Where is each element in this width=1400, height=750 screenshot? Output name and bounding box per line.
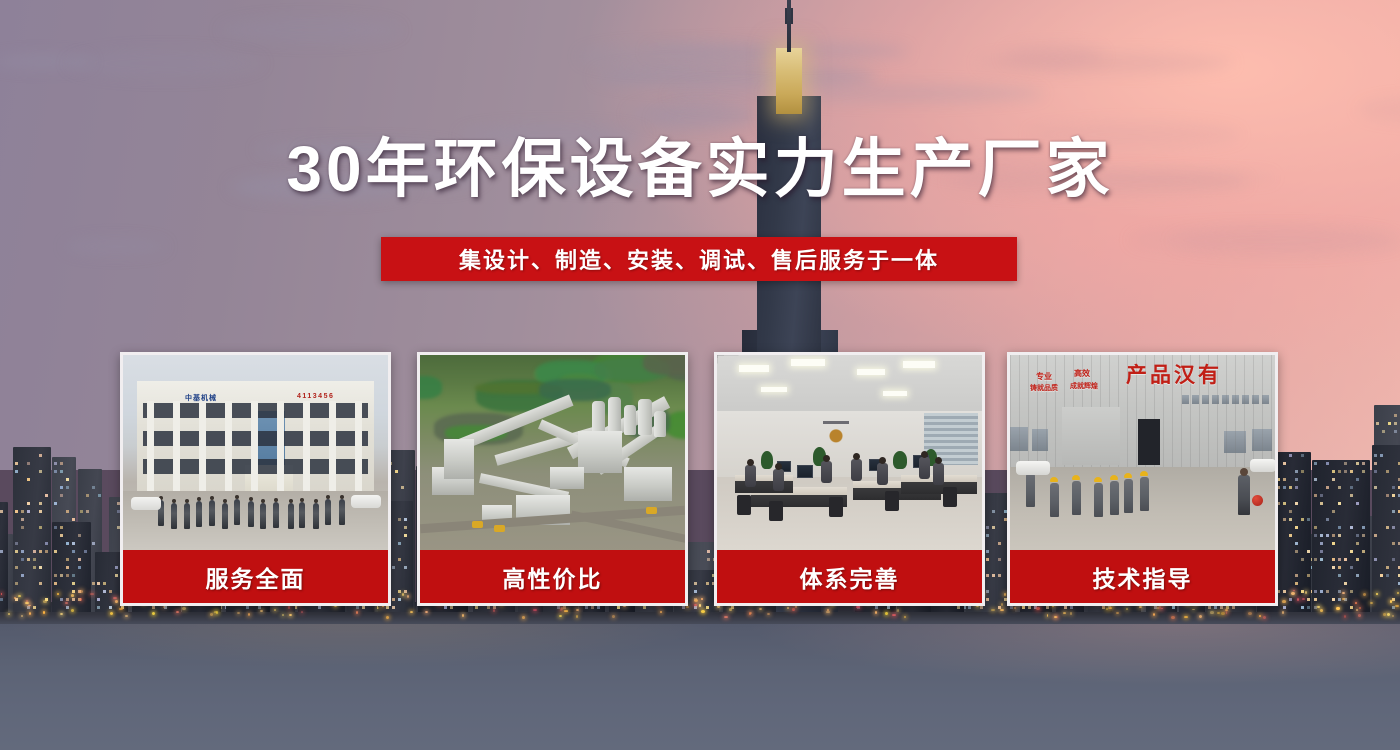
shore-light: [210, 613, 213, 616]
staff-member: [339, 499, 345, 525]
factory-worker: [1050, 483, 1059, 517]
river-water: [0, 612, 1400, 750]
shore-light: [282, 614, 284, 616]
hard-hat: [1050, 477, 1058, 482]
office-chair: [943, 487, 957, 507]
shore-light: [991, 609, 995, 611]
shore-light: [612, 615, 615, 618]
shore-light: [897, 609, 899, 612]
shore-light: [701, 610, 705, 613]
shore-light: [1392, 615, 1394, 617]
office-chair: [885, 491, 899, 511]
shore-light: [686, 606, 689, 608]
parked-car-left: [131, 497, 161, 510]
shore-light: [885, 612, 888, 615]
shore-light: [724, 616, 728, 618]
shore-light: [749, 612, 751, 615]
facade-pillar: [173, 401, 180, 493]
factory-banner-small-3: 铸就品质: [1030, 383, 1058, 393]
factory-banner-main: 产品汉有: [1126, 359, 1222, 389]
factory-banner-small-2: 高效: [1074, 368, 1090, 379]
ceiling-light-panel: [761, 387, 787, 392]
factory-worker: [1124, 479, 1133, 513]
instructor-head: [1240, 468, 1248, 476]
shore-light: [826, 611, 830, 613]
shore-light: [904, 616, 906, 618]
cloud: [67, 49, 263, 78]
yellow-excavator: [472, 521, 483, 528]
ceiling-light-panel: [791, 359, 825, 366]
staff-head: [289, 499, 293, 503]
factory-yard-scene: 产品汉有 专业 高效 铸就品质 成就辉煌: [1010, 355, 1275, 553]
hero-subtitle-banner: 集设计、制造、安装、调试、售后服务于一体: [381, 237, 1017, 281]
factory-banner-small-1: 专业: [1036, 371, 1052, 382]
ceiling-light-panel: [883, 391, 907, 396]
shore-light: [1014, 607, 1016, 609]
shore-light: [410, 611, 413, 613]
feature-card-4-photo: 产品汉有 专业 高效 铸就品质 成就辉煌: [1010, 355, 1275, 553]
parked-car-right: [351, 495, 381, 508]
shore-light: [1126, 608, 1128, 610]
red-hard-hat-in-hand: [1252, 495, 1263, 506]
shore-light: [1221, 612, 1225, 615]
shore-light: [1383, 613, 1386, 616]
shore-light: [560, 608, 562, 611]
staff-member: [171, 503, 177, 529]
shore-light: [163, 606, 165, 608]
feature-card-1-photo: 中基机械 4113456: [123, 355, 388, 553]
feature-card-2[interactable]: 高性价比: [417, 352, 688, 606]
desk-partition: [735, 481, 793, 493]
cloud: [579, 44, 769, 69]
office-worker: [745, 465, 756, 487]
staff-member: [222, 503, 228, 529]
shore-light: [1199, 615, 1202, 618]
feature-card-3-caption: 体系完善: [717, 550, 982, 603]
office-plant: [893, 451, 907, 469]
shore-light: [1225, 609, 1228, 611]
shore-light: [1047, 614, 1048, 617]
shore-light: [274, 609, 276, 611]
shore-light: [1210, 611, 1214, 614]
hero-subtitle-text: 集设计、制造、安装、调试、售后服务于一体: [459, 243, 939, 275]
plant-building: [550, 467, 584, 489]
shore-light: [576, 615, 578, 618]
shore-light: [1259, 615, 1261, 617]
staff-head: [210, 496, 214, 500]
wall-logo-graphic: [823, 421, 849, 445]
shore-light: [377, 607, 379, 609]
shore-light: [176, 611, 179, 613]
facade-pillar: [251, 401, 258, 493]
shore-light: [1320, 609, 1323, 612]
staff-head: [326, 495, 330, 499]
facade-pillar: [303, 401, 310, 493]
shore-light: [301, 611, 303, 613]
shore-light: [1356, 609, 1358, 611]
shore-light: [856, 606, 860, 608]
ceiling-light-panel: [903, 361, 935, 368]
building-phone-number: 4113456: [297, 393, 334, 400]
shore-light: [356, 611, 358, 614]
staff-member: [299, 502, 305, 528]
hard-hat: [1110, 475, 1118, 480]
factory-worker: [1026, 473, 1035, 507]
shore-light: [1192, 609, 1195, 610]
shore-light: [1282, 611, 1284, 614]
feature-card-4-caption: 技术指导: [1010, 550, 1275, 603]
factory-rolling-gate: [1062, 407, 1120, 465]
office-chair: [829, 497, 843, 517]
parked-car: [1250, 459, 1275, 472]
hard-hat: [1094, 477, 1102, 482]
shore-light: [152, 612, 155, 615]
office-worker-head: [747, 459, 754, 466]
plant-building: [444, 439, 474, 479]
shore-light: [787, 607, 789, 609]
staff-member: [325, 499, 331, 525]
staff-head: [261, 499, 265, 503]
vegetation-patch: [420, 376, 442, 399]
shore-light: [767, 613, 770, 615]
factory-worker: [1110, 481, 1119, 515]
office-worker-head: [775, 463, 782, 470]
staff-head: [235, 495, 239, 499]
shore-light: [533, 609, 537, 611]
shore-light: [576, 609, 579, 611]
shore-light: [559, 615, 562, 617]
staff-member: [313, 503, 319, 529]
hard-hat: [1140, 471, 1148, 476]
shore-light: [288, 606, 290, 609]
shore-light: [522, 616, 525, 619]
instructor: [1238, 475, 1250, 515]
shore-light: [289, 614, 292, 616]
staff-member: [209, 500, 215, 526]
shore-light: [1344, 615, 1346, 618]
storage-silo: [624, 405, 636, 435]
feature-card-1[interactable]: 中基机械 4113456 服务全面: [120, 352, 391, 606]
staff-member: [248, 501, 254, 527]
staff-head: [185, 499, 189, 503]
office-chair: [769, 501, 783, 521]
shore-light: [892, 614, 896, 616]
shore-light: [729, 608, 732, 611]
parked-car: [1016, 461, 1050, 475]
feature-card-4[interactable]: 产品汉有 专业 高效 铸就品质 成就辉煌 技术指导: [1007, 352, 1278, 606]
storage-silo: [592, 401, 605, 435]
storage-silo: [608, 397, 621, 435]
staff-head: [274, 498, 278, 502]
office-worker: [933, 463, 944, 485]
office-worker-head: [823, 455, 830, 462]
shore-light: [425, 611, 428, 613]
feature-card-3[interactable]: 体系完善: [714, 352, 985, 606]
hero-banner: 30年环保设备实力生产厂家 集设计、制造、安装、调试、售后服务于一体 中基机械 …: [0, 0, 1400, 750]
shore-light: [1336, 607, 1340, 610]
factory-worker: [1140, 477, 1149, 511]
vegetation-patch: [539, 379, 611, 401]
storage-silo: [654, 411, 666, 437]
shore-light: [1171, 616, 1175, 619]
shore-light: [1106, 608, 1108, 610]
office-interior-scene: [717, 355, 982, 553]
shore-light: [875, 611, 877, 614]
shore-light: [386, 616, 389, 619]
shore-light: [1226, 611, 1227, 614]
cloud: [1004, 45, 1103, 67]
shore-light: [182, 607, 186, 610]
shore-light: [462, 614, 464, 617]
office-worker: [919, 457, 930, 479]
staff-member: [260, 503, 266, 529]
staff-head: [223, 499, 227, 503]
office-building-scene: 中基机械 4113456: [123, 355, 388, 553]
shore-light: [1387, 613, 1390, 616]
shore-light: [759, 608, 762, 610]
shore-light: [1000, 609, 1004, 611]
ceiling-light-panel: [857, 369, 885, 375]
feature-card-2-photo: [420, 355, 685, 553]
shore-light: [1358, 614, 1361, 617]
shore-light: [110, 612, 113, 615]
shore-light: [660, 611, 662, 613]
factory-banner-small-4: 成就辉煌: [1070, 381, 1098, 391]
office-plant: [761, 451, 773, 469]
staff-member: [184, 503, 190, 529]
shore-light: [1116, 612, 1119, 614]
staff-member: [288, 503, 294, 529]
hard-hat: [1124, 473, 1132, 478]
feature-card-row: 中基机械 4113456 服务全面 高性价比: [0, 352, 1400, 606]
office-worker-head: [879, 457, 886, 464]
shore-light: [1184, 616, 1188, 618]
facade-pillar: [147, 401, 154, 493]
staff-member: [234, 499, 240, 525]
office-worker: [851, 459, 862, 481]
factory-worker: [1094, 483, 1103, 517]
staff-member: [196, 501, 202, 527]
aerial-plant-scene: [420, 355, 685, 553]
office-chair: [737, 495, 751, 515]
office-worker: [821, 461, 832, 483]
water-reflection: [0, 612, 1400, 750]
shore-light: [119, 608, 123, 610]
shore-light: [1109, 607, 1112, 609]
cloud: [653, 106, 756, 133]
staff-head: [340, 495, 344, 499]
plant-building: [578, 431, 622, 473]
shore-light: [216, 611, 218, 614]
staff-member: [273, 502, 279, 528]
shore-light: [8, 613, 10, 615]
tower-spire: [787, 0, 791, 52]
shore-light: [1063, 612, 1066, 614]
office-worker-head: [935, 457, 942, 464]
ceiling-light-panel: [739, 365, 769, 372]
shore-light: [29, 612, 31, 615]
shore-light: [1359, 607, 1361, 609]
factory-side-door: [1138, 419, 1160, 465]
shore-light: [792, 608, 795, 611]
shore-light: [1153, 613, 1155, 616]
storage-silo: [638, 399, 652, 435]
shore-light: [43, 611, 45, 614]
facade-pillar: [199, 401, 206, 493]
staff-head: [197, 497, 201, 501]
tower-crown-light: [776, 48, 802, 114]
shore-light: [21, 615, 23, 617]
shore-light: [1317, 606, 1320, 608]
facade-pillar: [277, 401, 284, 493]
yellow-excavator: [494, 525, 505, 532]
ceiling-grid: [717, 355, 982, 413]
office-worker-head: [921, 451, 928, 458]
shore-light: [60, 613, 63, 615]
shore-light: [237, 612, 240, 614]
shore-light: [1161, 608, 1163, 609]
office-worker: [773, 469, 784, 491]
staff-head: [314, 499, 318, 503]
shore-light: [248, 613, 250, 616]
hero-headline: 30年环保设备实力生产厂家: [0, 134, 1400, 204]
staff-head: [300, 498, 304, 502]
cloud: [220, 17, 401, 43]
feature-card-1-caption: 服务全面: [123, 550, 388, 603]
shore-light: [1070, 612, 1072, 615]
facade-pillar: [355, 401, 362, 493]
office-building: 中基机械 4113456: [137, 381, 374, 493]
shore-light: [1157, 607, 1159, 609]
facade-pillar: [225, 401, 232, 493]
shore-light: [1036, 607, 1040, 610]
staff-head: [249, 497, 253, 501]
plant-building: [624, 467, 672, 501]
feature-card-3-photo: [717, 355, 982, 553]
shore-light: [493, 609, 495, 612]
office-worker-head: [853, 453, 860, 460]
feature-card-2-caption: 高性价比: [420, 550, 685, 603]
facade-pillar: [329, 401, 336, 493]
shore-light: [125, 615, 128, 617]
shore-light: [564, 610, 568, 612]
shore-light: [260, 610, 263, 612]
shore-light: [1217, 612, 1220, 614]
shore-light: [1248, 612, 1252, 615]
yellow-excavator: [646, 507, 657, 514]
office-worker: [877, 463, 888, 485]
shore-light: [71, 609, 74, 612]
staff-head: [172, 499, 176, 503]
factory-worker: [1072, 481, 1081, 515]
computer-monitor: [797, 465, 813, 478]
shore-light: [1263, 616, 1266, 619]
hard-hat: [1072, 475, 1080, 480]
shore-light: [1139, 606, 1142, 608]
